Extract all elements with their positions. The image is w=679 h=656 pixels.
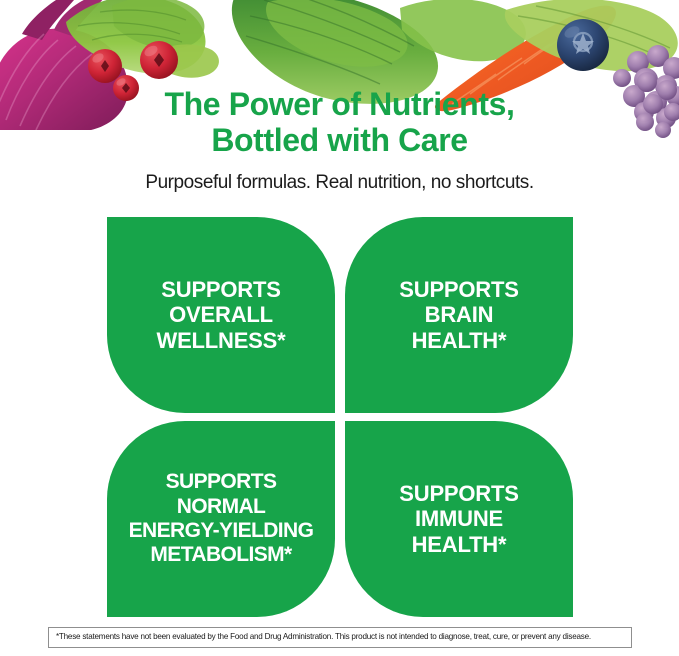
benefit-panel-energy-yielding-metabolism[interactable]: SUPPORTS NORMAL ENERGY-YIELDING METABOLI… <box>107 421 335 617</box>
benefit-panel-brain-health[interactable]: SUPPORTS BRAIN HEALTH* <box>345 217 573 413</box>
benefit-line: BRAIN <box>399 302 518 328</box>
benefit-line: SUPPORTS <box>157 277 286 303</box>
leafy-greens-illustration <box>66 0 219 78</box>
benefit-line: METABOLISM* <box>129 543 314 567</box>
blueberry-illustration <box>557 19 609 71</box>
page-title: The Power of Nutrients, Bottled with Car… <box>0 86 679 158</box>
benefit-line: NORMAL <box>129 495 314 519</box>
infographic-page: The Power of Nutrients, Bottled with Car… <box>0 0 679 656</box>
benefit-panels-group: SUPPORTS OVERALL WELLNESS* SUPPORTS BRAI… <box>107 217 573 617</box>
benefit-line: SUPPORTS <box>129 470 314 494</box>
page-subtitle: Purposeful formulas. Real nutrition, no … <box>0 172 679 194</box>
header-block: The Power of Nutrients, Bottled with Car… <box>0 86 679 194</box>
fda-disclaimer-box: *These statements have not been evaluate… <box>48 627 632 648</box>
benefit-line: HEALTH* <box>399 328 518 354</box>
benefit-panel-immune-health-text: SUPPORTS IMMUNE HEALTH* <box>399 481 518 558</box>
benefit-line: WELLNESS* <box>157 328 286 354</box>
benefit-line: OVERALL <box>157 302 286 328</box>
benefit-panel-overall-wellness[interactable]: SUPPORTS OVERALL WELLNESS* <box>107 217 335 413</box>
benefit-panel-overall-wellness-text: SUPPORTS OVERALL WELLNESS* <box>157 277 286 354</box>
benefit-line: IMMUNE <box>399 506 518 532</box>
lettuce-illustration <box>505 0 678 71</box>
benefit-panel-energy-yielding-metabolism-text: SUPPORTS NORMAL ENERGY-YIELDING METABOLI… <box>129 470 314 567</box>
headline-line-1: The Power of Nutrients, <box>0 86 679 122</box>
fda-disclaimer-text: *These statements have not been evaluate… <box>56 632 624 642</box>
benefit-line: ENERGY-YIELDING <box>129 519 314 543</box>
benefit-panel-brain-health-text: SUPPORTS BRAIN HEALTH* <box>399 277 518 354</box>
benefit-panel-immune-health[interactable]: SUPPORTS IMMUNE HEALTH* <box>345 421 573 617</box>
headline-line-2: Bottled with Care <box>0 122 679 158</box>
benefit-line: SUPPORTS <box>399 481 518 507</box>
benefit-line: HEALTH* <box>399 532 518 558</box>
benefit-line: SUPPORTS <box>399 277 518 303</box>
